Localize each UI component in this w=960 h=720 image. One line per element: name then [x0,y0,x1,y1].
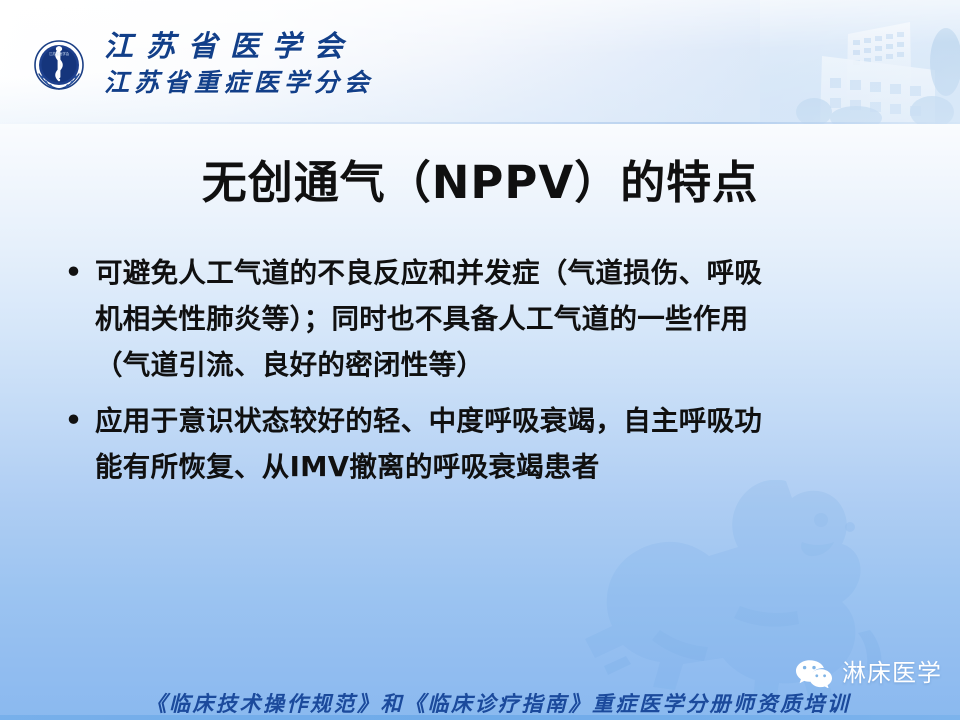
bullet-line: 能有所恢复、从IMV撤离的呼吸衰竭患者 [95,444,928,490]
association-name: 江苏省医学会 [104,28,524,64]
bullet-text: 可避免人工气道的不良反应和并发症（气道损伤、呼吸 机相关性肺炎等）；同时也不具备… [95,250,928,388]
bullet-line: 可避免人工气道的不良反应和并发症（气道损伤、呼吸 [95,250,928,296]
association-branch-name: 江苏省重症医学分会 [104,66,524,100]
footer-text: 《临床技术操作规范》和《临床诊疗指南》重症医学分册师资质培训 [0,690,960,718]
bullet-marker-icon: • [52,398,95,444]
slide-header: 江苏省医学会 江苏省医学会 江苏省重症医学分会 [0,0,960,124]
bullet-line: 应用于意识状态较好的轻、中度呼吸衰竭，自主呼吸功 [95,398,928,444]
presentation-slide: 江苏省医学会 江苏省医学会 江苏省重症医学分会 无创通气（NPPV）的特点 • [0,0,960,720]
list-item: • 可避免人工气道的不良反应和并发症（气道损伤、呼吸 机相关性肺炎等）；同时也不… [52,250,928,388]
bullet-text: 应用于意识状态较好的轻、中度呼吸衰竭，自主呼吸功 能有所恢复、从IMV撤离的呼吸… [95,398,928,490]
list-item: • 应用于意识状态较好的轻、中度呼吸衰竭，自主呼吸功 能有所恢复、从IMV撤离的… [52,398,928,490]
medical-association-emblem-icon: 江苏省医学会 [28,36,90,98]
footer-rule [0,715,960,720]
bullet-marker-icon: • [52,250,95,296]
slide-title: 无创通气（NPPV）的特点 [0,155,960,211]
association-names: 江苏省医学会 江苏省重症医学分会 [104,28,524,100]
header-divider [0,122,960,124]
bullet-line: （气道引流、良好的密闭性等） [95,342,928,388]
svg-text:江苏省医学会: 江苏省医学会 [49,51,70,56]
slide-footer: 《临床技术操作规范》和《临床诊疗指南》重症医学分册师资质培训 [0,678,960,720]
hospital-building-photo [760,0,960,124]
bullet-list: • 可避免人工气道的不良反应和并发症（气道损伤、呼吸 机相关性肺炎等）；同时也不… [52,250,928,500]
bullet-line: 机相关性肺炎等）；同时也不具备人工气道的一些作用 [95,296,928,342]
